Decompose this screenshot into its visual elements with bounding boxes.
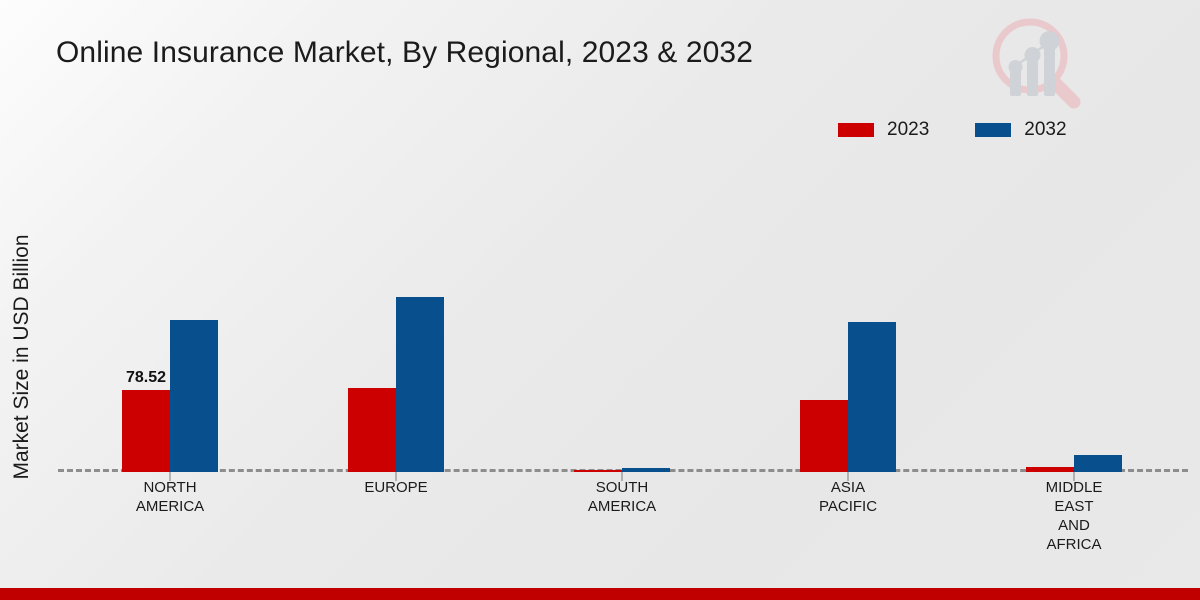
y-axis-title: Market Size in USD Billion — [10, 177, 34, 537]
bar-2023-south-america[interactable] — [574, 470, 622, 472]
bar-2032-europe[interactable] — [396, 297, 444, 472]
bar-group-bars — [736, 160, 960, 472]
bar-group-europe: EUROPE — [284, 160, 508, 472]
bar-group-south-america: SOUTH AMERICA — [510, 160, 734, 472]
legend-label-2032: 2032 — [1024, 120, 1066, 139]
legend-swatch-2032 — [975, 123, 1011, 137]
bar-2023-europe[interactable] — [348, 388, 396, 472]
bar-group-bars: 78.52 — [58, 160, 282, 472]
bar-2023-middle-east-and-africa[interactable] — [1026, 467, 1074, 472]
x-axis-label-middle-east-and-africa: MIDDLE EAST AND AFRICA — [962, 478, 1186, 554]
bar-group-bars — [510, 160, 734, 472]
footer-accent-bar — [0, 588, 1200, 600]
chart-title: Online Insurance Market, By Regional, 20… — [56, 36, 753, 70]
bar-2023-asia-pacific[interactable] — [800, 400, 848, 472]
chart-container: Online Insurance Market, By Regional, 20… — [0, 0, 1200, 600]
chart-legend: 2023 2032 — [838, 120, 1067, 139]
legend-label-2023: 2023 — [887, 120, 929, 139]
bar-2032-middle-east-and-africa[interactable] — [1074, 455, 1122, 472]
x-axis-label-asia-pacific: ASIA PACIFIC — [736, 478, 960, 516]
legend-item-2023[interactable]: 2023 — [838, 120, 929, 139]
bar-2032-north-america[interactable] — [170, 320, 218, 472]
plot-area: 78.52 NORTH AMERICA EUROPE SOUTH AMERICA — [58, 160, 1188, 472]
bar-value-label: 78.52 — [126, 369, 166, 387]
bar-group-bars — [962, 160, 1186, 472]
x-axis-label-south-america: SOUTH AMERICA — [510, 478, 734, 516]
x-axis-label-north-america: NORTH AMERICA — [58, 478, 282, 516]
market-research-logo-icon — [982, 12, 1086, 112]
bar-2023-north-america[interactable]: 78.52 — [122, 390, 170, 472]
bar-2032-south-america[interactable] — [622, 468, 670, 472]
legend-swatch-2023 — [838, 123, 874, 137]
bar-group-asia-pacific: ASIA PACIFIC — [736, 160, 960, 472]
bar-group-north-america: 78.52 NORTH AMERICA — [58, 160, 282, 472]
x-axis-label-europe: EUROPE — [284, 478, 508, 497]
legend-item-2032[interactable]: 2032 — [975, 120, 1066, 139]
bar-group-bars — [284, 160, 508, 472]
bar-group-middle-east-and-africa: MIDDLE EAST AND AFRICA — [962, 160, 1186, 472]
bar-2032-asia-pacific[interactable] — [848, 322, 896, 472]
